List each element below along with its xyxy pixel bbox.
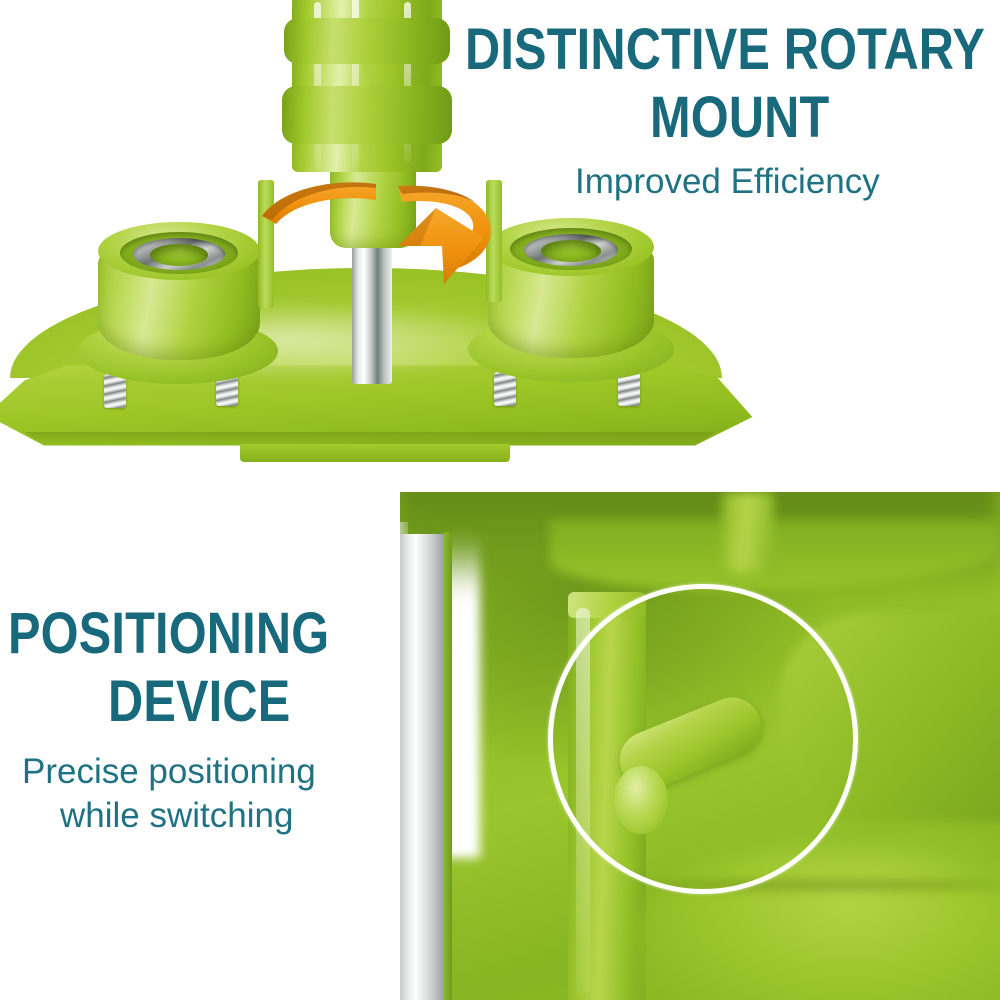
spring-left-a bbox=[104, 374, 126, 408]
top-headline-line1: DISTINCTIVE ROTARY bbox=[465, 22, 985, 79]
white-circle-highlight bbox=[548, 584, 858, 894]
bottom-headline-line2: DEVICE bbox=[108, 674, 290, 731]
die-right-hole bbox=[541, 240, 601, 262]
chrome-post bbox=[400, 534, 444, 1000]
product-feature-collage: DISTINCTIVE ROTARY MOUNT Improved Effici… bbox=[0, 0, 1000, 1000]
base-foot bbox=[240, 444, 510, 462]
column-collar-upper bbox=[284, 18, 450, 64]
bottom-subtitle-line2: while switching bbox=[60, 796, 293, 835]
chrome-post-green-edge bbox=[444, 532, 452, 1000]
die-left-hole bbox=[150, 244, 208, 266]
spring-right-a bbox=[494, 372, 516, 406]
bottom-headline-line1: POSITIONING bbox=[8, 606, 329, 663]
housing-fin bbox=[722, 492, 774, 572]
column-collar-lower bbox=[282, 86, 452, 144]
top-headline-line2: MOUNT bbox=[650, 90, 829, 147]
positioning-device-photo bbox=[400, 492, 1000, 1000]
bottom-subtitle-line1: Precise positioning bbox=[22, 752, 316, 791]
top-subtitle: Improved Efficiency bbox=[575, 162, 880, 201]
rotation-arrow-icon bbox=[248, 172, 508, 300]
